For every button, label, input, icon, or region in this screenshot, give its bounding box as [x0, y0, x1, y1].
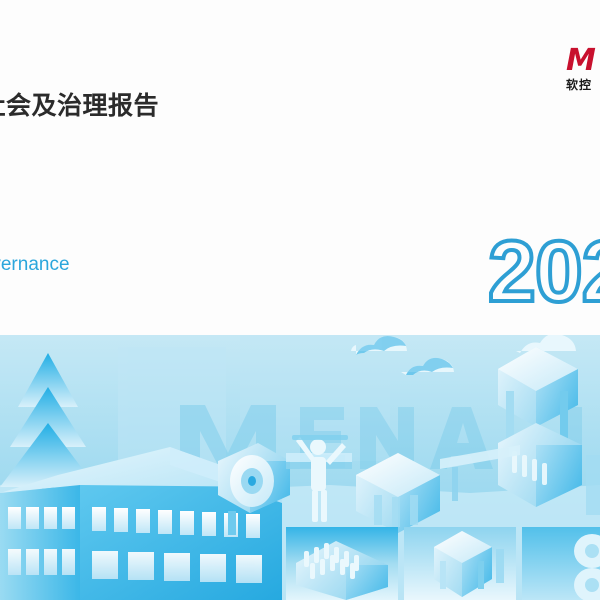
brand-logo: M 软控 — [566, 46, 600, 98]
report-cover-page: M 软控 环境、社会及治理报告 Environmental Social and… — [0, 0, 600, 600]
report-title-english-line1: Environmental — [0, 224, 292, 251]
report-year: 2021 — [488, 229, 600, 315]
report-title-english: Environmental Social and Governance — [0, 224, 292, 278]
cover-top-section: M 软控 环境、社会及治理报告 Environmental Social and… — [0, 0, 600, 335]
report-title-chinese: 环境、社会及治理报告 — [0, 86, 159, 122]
brand-name-chinese: 软控 — [566, 78, 600, 92]
mesnac-m-logo-icon: M — [566, 46, 600, 76]
isometric-industrial-illustration — [0, 335, 600, 600]
report-title-english-line2: Social and Governance — [0, 251, 292, 278]
cover-illustration-band — [0, 335, 600, 600]
